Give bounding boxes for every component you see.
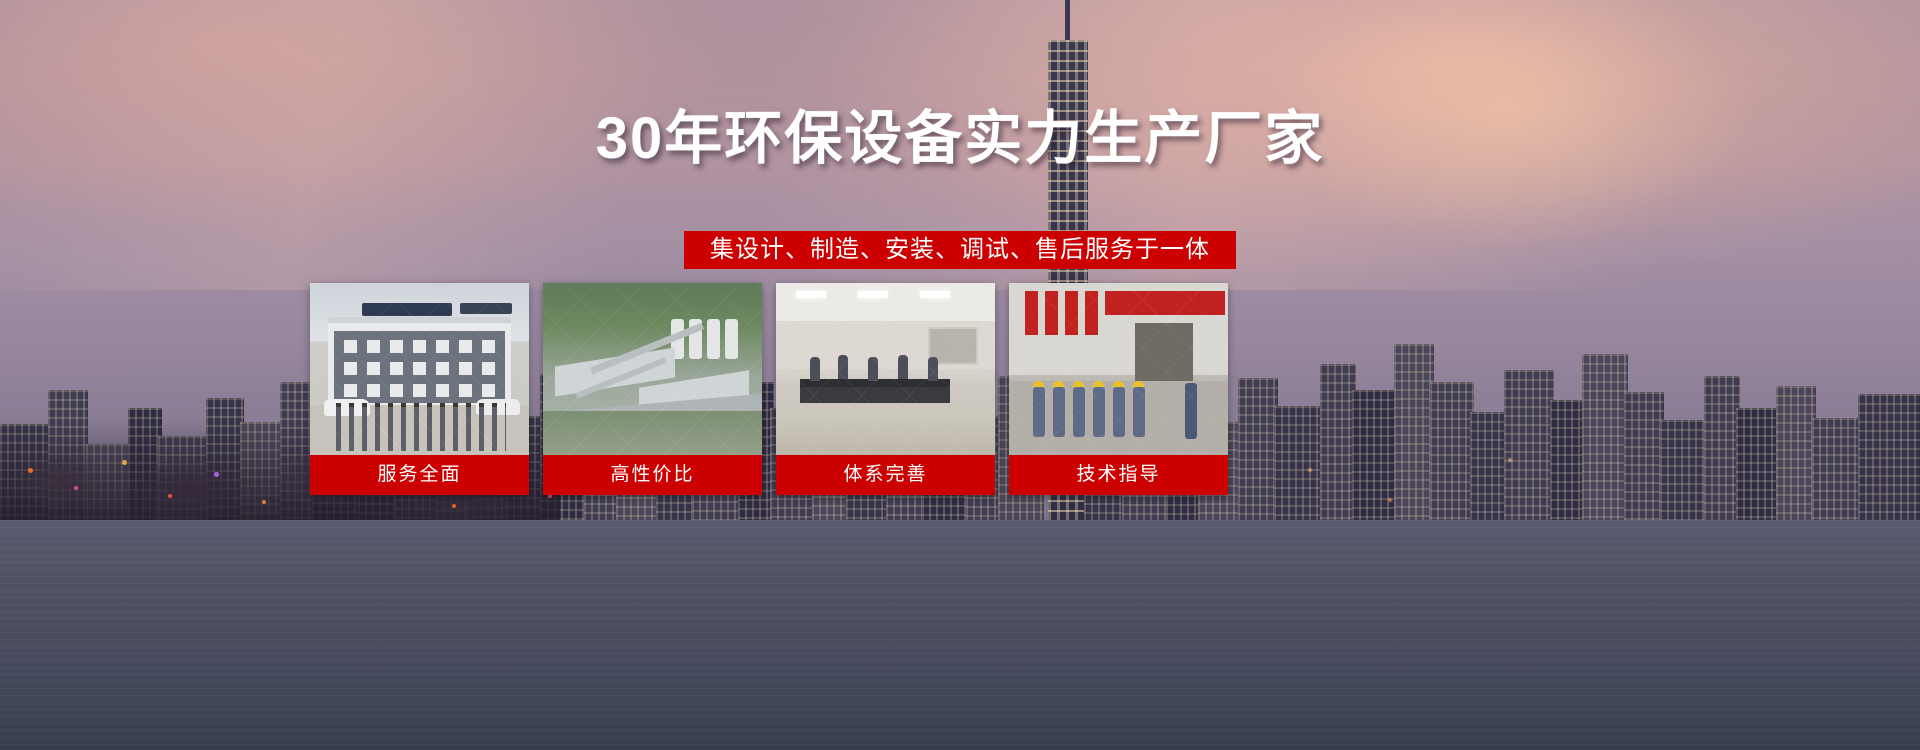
factory-door	[1135, 323, 1193, 381]
desk-body	[800, 387, 950, 403]
feature-card[interactable]: 技术指导	[1009, 283, 1228, 495]
office-ceiling	[776, 283, 995, 322]
feature-card[interactable]: 体系完善	[776, 283, 995, 495]
office-floor	[776, 409, 995, 455]
hero-banner: 30年环保设备实力生产厂家 集设计、制造、安装、调试、售后服务于一体 服务全面	[0, 0, 1920, 750]
staff-row	[336, 407, 506, 451]
wall-banner	[1105, 291, 1225, 315]
feature-card[interactable]: 高性价比	[543, 283, 762, 495]
page-title: 30年环保设备实力生产厂家	[0, 104, 1920, 174]
office-building	[328, 317, 511, 411]
card-caption: 体系完善	[776, 455, 995, 495]
card-image-system	[776, 283, 995, 455]
subtitle-banner: 集设计、制造、安装、调试、售后服务于一体	[684, 231, 1236, 269]
feature-card[interactable]: 服务全面	[310, 283, 529, 495]
card-caption: 高性价比	[543, 455, 762, 495]
card-image-value	[543, 283, 762, 455]
subtitle-wrap: 集设计、制造、安装、调试、售后服务于一体	[0, 231, 1920, 269]
site-lawn	[543, 411, 762, 455]
card-image-guidance	[1009, 283, 1228, 455]
company-phone-sign	[460, 303, 512, 314]
card-image-service	[310, 283, 529, 455]
river-water	[0, 520, 1920, 750]
card-caption: 技术指导	[1009, 455, 1228, 495]
feature-card-list: 服务全面 高性价比	[310, 283, 1262, 495]
card-caption: 服务全面	[310, 455, 529, 495]
company-logo	[362, 303, 452, 316]
